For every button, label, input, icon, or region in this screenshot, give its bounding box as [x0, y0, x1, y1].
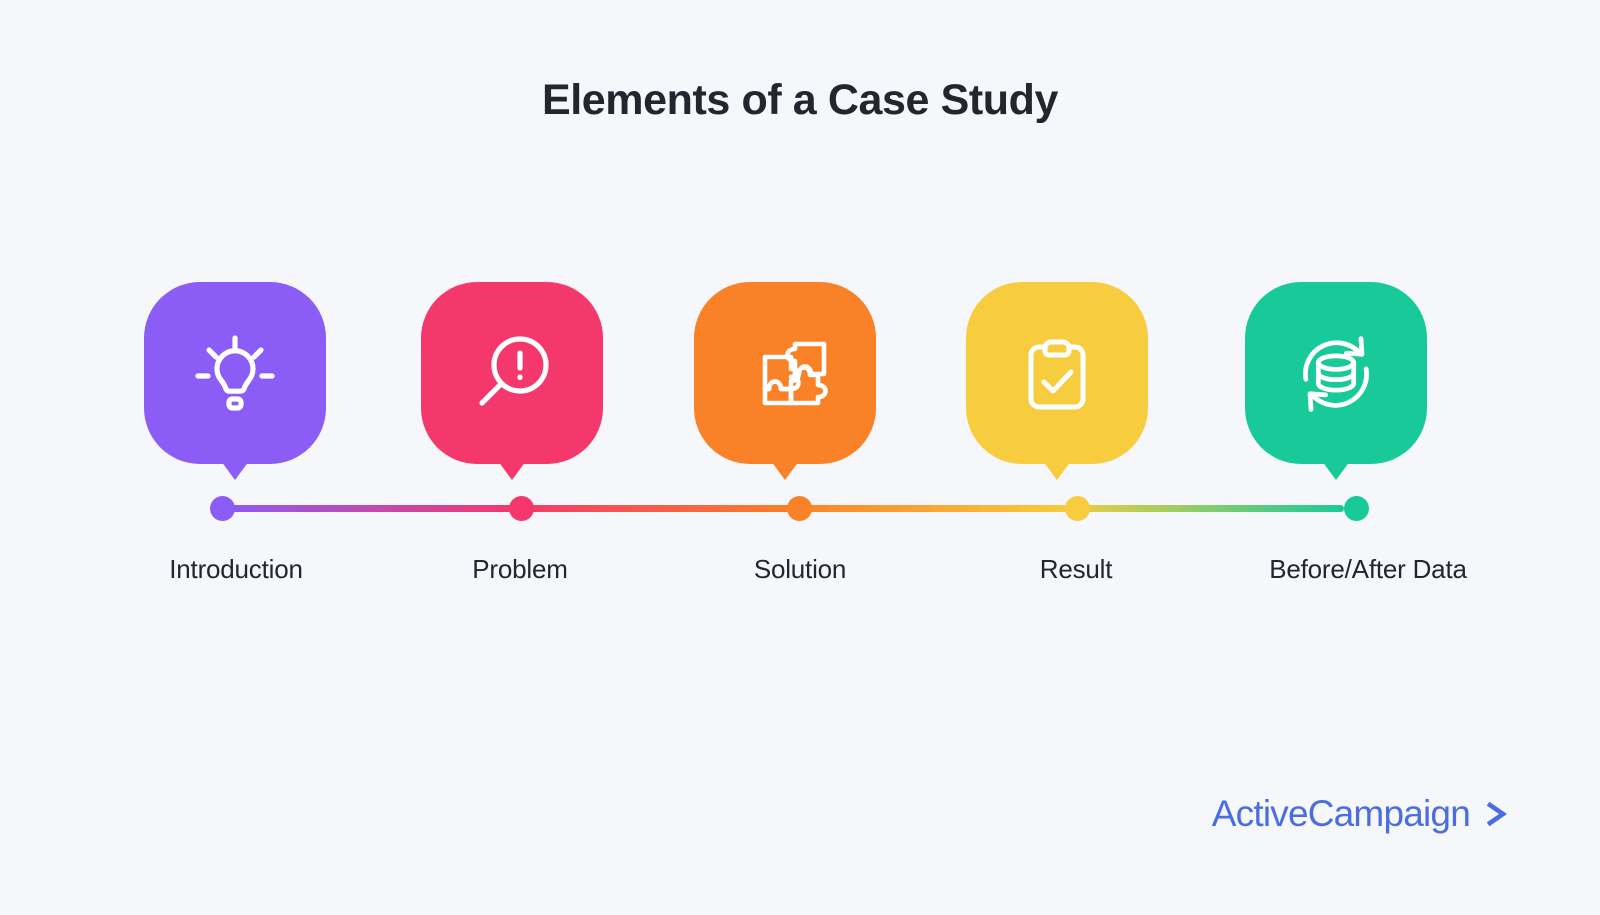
- icon-tile-result: [966, 282, 1148, 464]
- timeline-step-introduction: [115, 282, 355, 464]
- rail-segment-3: [790, 505, 1072, 512]
- icon-tile-wrap-problem: [421, 282, 603, 464]
- timeline-step-problem: [392, 282, 632, 464]
- icon-tile-tail-solution: [771, 461, 799, 480]
- rail-dot-solution: [787, 496, 812, 521]
- lightbulb-icon: [185, 323, 285, 423]
- timeline-step-before-after-data: [1216, 282, 1456, 464]
- icon-tile-tail-problem: [498, 461, 526, 480]
- rail-segment-1: [222, 505, 518, 512]
- timeline-step-solution: [665, 282, 905, 464]
- step-label-solution: Solution: [640, 554, 960, 585]
- rail-segment-4: [1064, 505, 1344, 512]
- step-label-problem: Problem: [360, 554, 680, 585]
- case-study-timeline: Introduction Problem Solution Result Bef…: [0, 0, 1600, 915]
- icon-tile-wrap-result: [966, 282, 1148, 464]
- rail-segment-2: [510, 505, 798, 512]
- rail-dot-result: [1065, 496, 1090, 521]
- timeline-step-result: [937, 282, 1177, 464]
- puzzle-pieces-icon: [735, 323, 835, 423]
- icon-tile-tail-result: [1043, 461, 1071, 480]
- rail-dot-introduction: [210, 496, 235, 521]
- icon-tile-problem: [421, 282, 603, 464]
- icon-tile-wrap-before-after-data: [1245, 282, 1427, 464]
- icon-tile-before-after-data: [1245, 282, 1427, 464]
- step-label-introduction: Introduction: [76, 554, 396, 585]
- timeline-rail: [0, 496, 1600, 522]
- step-label-before-after-data: Before/After Data: [1208, 554, 1528, 585]
- icon-tile-solution: [694, 282, 876, 464]
- icon-tile-tail-before-after-data: [1322, 461, 1350, 480]
- chevron-right-icon: [1480, 798, 1512, 830]
- magnifier-exclamation-icon: [462, 323, 562, 423]
- rail-dot-problem: [509, 496, 534, 521]
- database-refresh-icon: [1284, 321, 1388, 425]
- brand-wordmark: ActiveCampaign: [1212, 795, 1470, 832]
- clipboard-check-icon: [1007, 323, 1107, 423]
- icon-tile-wrap-solution: [694, 282, 876, 464]
- icon-tile-tail-introduction: [221, 461, 249, 480]
- step-label-result: Result: [916, 554, 1236, 585]
- rail-dot-before-after-data: [1344, 496, 1369, 521]
- activecampaign-logo: ActiveCampaign: [1212, 795, 1512, 832]
- icon-tile-introduction: [144, 282, 326, 464]
- icon-tile-wrap-introduction: [144, 282, 326, 464]
